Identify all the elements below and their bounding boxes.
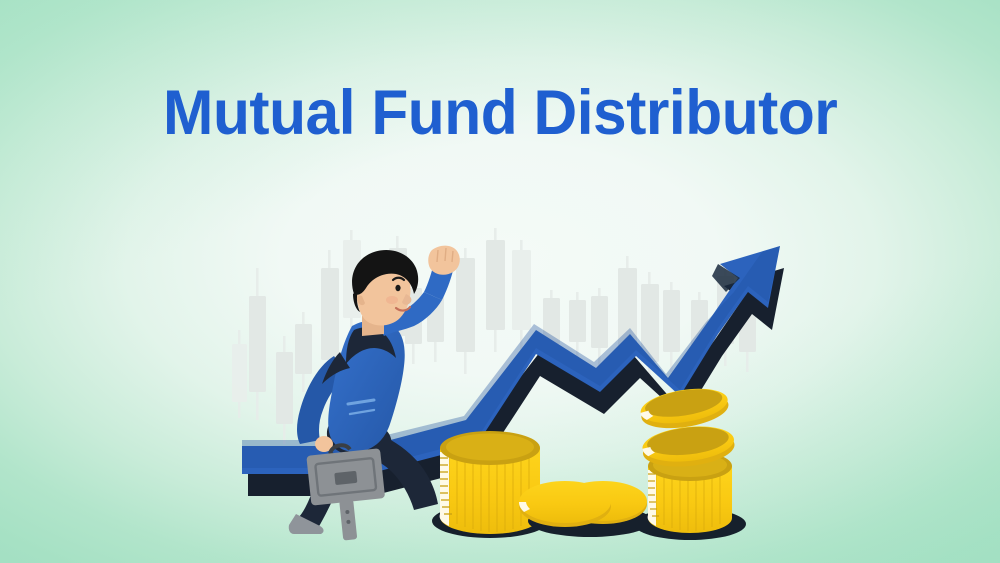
candle <box>232 330 247 418</box>
candle <box>276 336 293 444</box>
candle <box>486 228 505 352</box>
coin-tilted-top <box>638 383 731 433</box>
candle <box>663 282 680 372</box>
coin-flat-left-face <box>519 481 611 523</box>
eye <box>395 285 400 291</box>
illustration-canvas: Mutual Fund Distributor <box>0 0 1000 563</box>
candle <box>249 268 266 420</box>
coin-pair-middle <box>519 481 652 537</box>
coin-stack-right <box>634 383 746 540</box>
coin-top-inner <box>446 434 534 461</box>
businessman <box>289 246 460 544</box>
illustration-artwork <box>0 0 1000 563</box>
fist <box>428 246 460 275</box>
coin-highlight <box>648 470 656 526</box>
candle <box>295 312 312 392</box>
coin-highlight <box>440 452 449 526</box>
cheek <box>386 296 398 304</box>
briefcase-latch <box>334 471 357 485</box>
candle <box>456 248 475 374</box>
